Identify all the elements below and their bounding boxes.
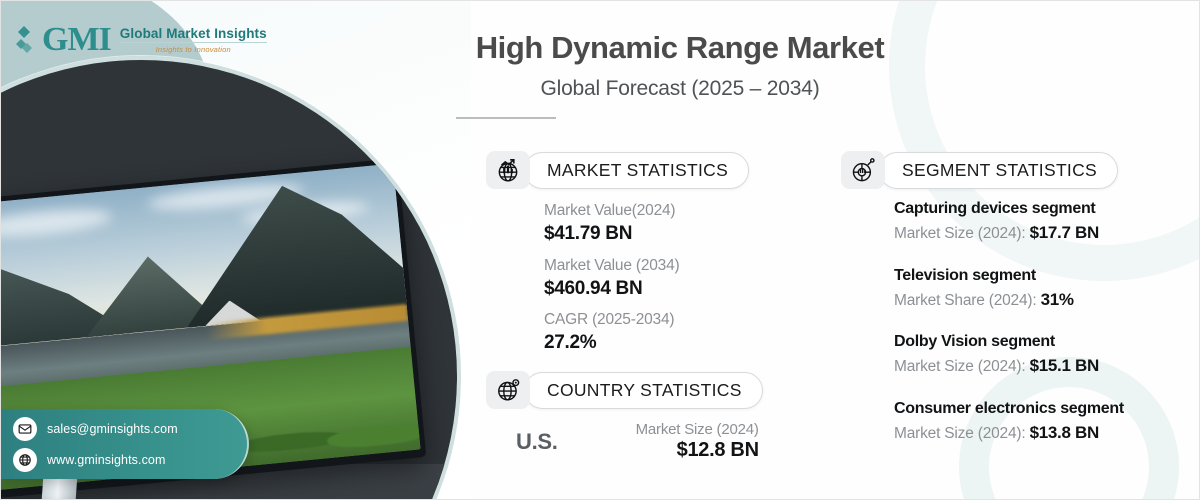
market-statistics-pill: MARKET STATISTICS	[524, 152, 749, 189]
market-stat-label: Market Value(2024)	[544, 201, 679, 222]
segment-metric-line: Market Share (2024): 31%	[894, 289, 1184, 312]
segment-metric-line: Market Size (2024): $13.8 BN	[894, 422, 1184, 445]
country-name: U.S.	[516, 421, 558, 455]
logo-tagline: Insights to Innovation	[120, 45, 267, 54]
country-statistics-label: COUNTRY STATISTICS	[547, 380, 742, 401]
country-statistics-body: U.S. Market Size (2024) $12.8 BN	[516, 421, 759, 462]
segment-metric-label: Market Size (2024):	[894, 358, 1030, 375]
infographic-root: sales@gminsights.com www.gminsights.com …	[0, 0, 1200, 500]
segment-metric-value: $13.8 BN	[1030, 423, 1099, 442]
segment-item: Television segment Market Share (2024): …	[894, 266, 1184, 312]
title-divider	[456, 117, 556, 119]
globe-bar-chart-icon	[486, 151, 530, 189]
country-metric-block: Market Size (2024) $12.8 BN	[636, 421, 759, 462]
logo-company-name: Global Market Insights	[120, 26, 267, 44]
market-statistics-header: MARKET STATISTICS	[486, 151, 749, 189]
country-statistics-header: COUNTRY STATISTICS	[486, 371, 763, 409]
segment-metric-label: Market Size (2024):	[894, 225, 1030, 242]
segment-metric-value: 31%	[1041, 290, 1074, 309]
donut-chart-arrow-icon	[841, 151, 885, 189]
globe-icon	[13, 448, 37, 472]
segment-name: Consumer electronics segment	[894, 399, 1184, 420]
segment-item: Dolby Vision segment Market Size (2024):…	[894, 332, 1184, 378]
title-block: High Dynamic Range Market Global Forecas…	[454, 31, 1154, 119]
contact-strip: sales@gminsights.com www.gminsights.com	[1, 409, 249, 479]
contact-email-row[interactable]: sales@gminsights.com	[13, 417, 247, 441]
market-stat-row: Market Value (2034) $460.94 BN	[544, 256, 679, 302]
segment-metric-label: Market Size (2024):	[894, 425, 1030, 442]
segment-name: Television segment	[894, 266, 1184, 287]
segment-name: Dolby Vision segment	[894, 332, 1184, 353]
contact-email-text: sales@gminsights.com	[47, 422, 178, 436]
contact-website-row[interactable]: www.gminsights.com	[13, 448, 247, 472]
segment-statistics-label: SEGMENT STATISTICS	[902, 160, 1097, 181]
globe-pin-icon	[486, 371, 530, 409]
country-metric-label: Market Size (2024)	[636, 421, 759, 438]
brand-logo[interactable]: GMI Global Market Insights Insights to I…	[13, 23, 267, 57]
market-stat-row: Market Value(2024) $41.79 BN	[544, 201, 679, 247]
segment-statistics-list: Capturing devices segment Market Size (2…	[894, 199, 1184, 466]
country-metric-value: $12.8 BN	[636, 439, 759, 462]
segment-item: Consumer electronics segment Market Size…	[894, 399, 1184, 445]
market-statistics-list: Market Value(2024) $41.79 BN Market Valu…	[544, 201, 679, 365]
logo-wordmark: Global Market Insights Insights to Innov…	[120, 26, 267, 55]
segment-metric-line: Market Size (2024): $15.1 BN	[894, 355, 1184, 378]
segment-statistics-pill: SEGMENT STATISTICS	[879, 152, 1118, 189]
gmi-diamond-icon	[13, 25, 35, 55]
market-statistics-label: MARKET STATISTICS	[547, 160, 728, 181]
segment-metric-value: $15.1 BN	[1030, 356, 1099, 375]
bush-shape	[326, 422, 420, 450]
country-statistics-pill: COUNTRY STATISTICS	[524, 372, 763, 409]
logo-abbr: GMI	[42, 23, 111, 57]
segment-statistics-header: SEGMENT STATISTICS	[841, 151, 1118, 189]
market-stat-value: 27.2%	[544, 331, 679, 356]
market-stat-value: $460.94 BN	[544, 277, 679, 302]
segment-item: Capturing devices segment Market Size (2…	[894, 199, 1184, 245]
market-stat-row: CAGR (2025-2034) 27.2%	[544, 310, 679, 356]
market-stat-label: Market Value (2034)	[544, 256, 679, 277]
segment-metric-line: Market Size (2024): $17.7 BN	[894, 222, 1184, 245]
page-title: High Dynamic Range Market	[454, 31, 906, 65]
contact-website-text: www.gminsights.com	[47, 453, 166, 467]
market-stat-value: $41.79 BN	[544, 222, 679, 247]
envelope-icon	[13, 417, 37, 441]
cloud-icon	[0, 205, 113, 241]
segment-name: Capturing devices segment	[894, 199, 1184, 220]
segment-metric-value: $17.7 BN	[1030, 223, 1099, 242]
page-subtitle: Global Forecast (2025 – 2034)	[454, 77, 906, 101]
market-stat-label: CAGR (2025-2034)	[544, 310, 679, 331]
segment-metric-label: Market Share (2024):	[894, 292, 1041, 309]
